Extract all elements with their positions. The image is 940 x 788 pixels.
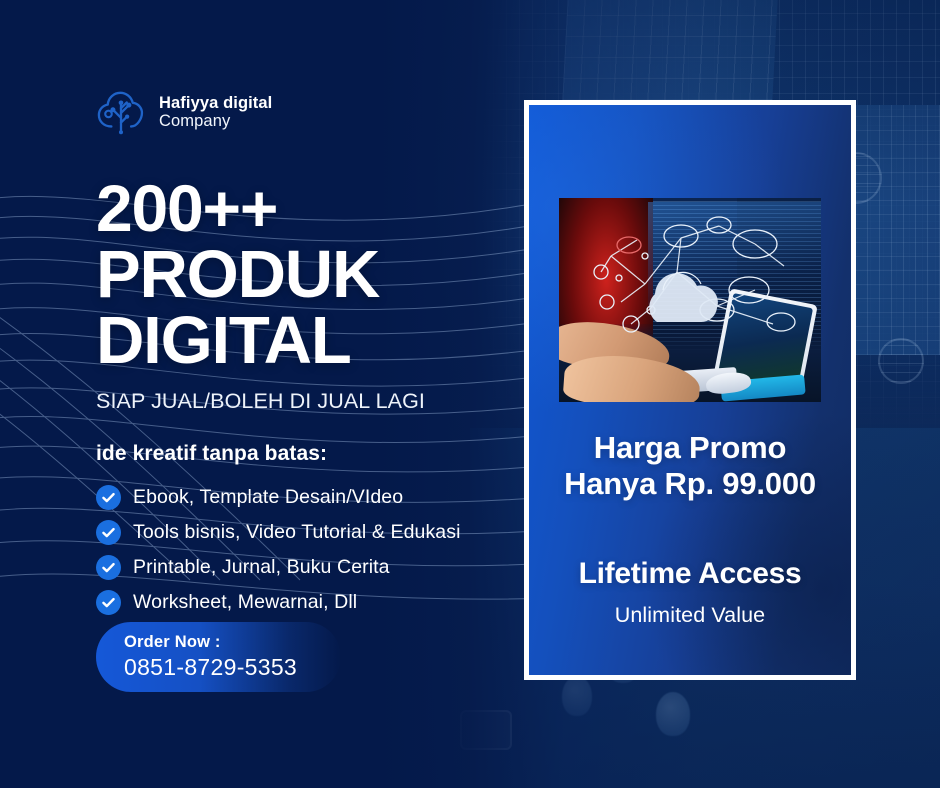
list-item-label: Printable, Jurnal, Buku Cerita [133, 556, 390, 579]
headline-line-2: PRODUK [96, 244, 516, 307]
check-circle-icon [96, 590, 121, 615]
headline-line-1: 200++ [96, 177, 516, 239]
list-item: Worksheet, Mewarnai, Dll [96, 590, 516, 615]
order-now-label: Order Now : [124, 633, 341, 652]
list-item: Printable, Jurnal, Buku Cerita [96, 555, 516, 580]
brand-name-primary: Hafiyya digital [159, 95, 272, 113]
promo-poster: Hafiyya digital Company 200++ PRODUK DIG… [0, 0, 940, 788]
brand-name-secondary: Company [159, 113, 272, 131]
list-item: Ebook, Template Desain/VIdeo [96, 485, 516, 510]
list-item-label: Ebook, Template Desain/VIdeo [133, 486, 403, 509]
hands-typing-cloud-computing-photo [559, 198, 821, 402]
check-circle-icon [96, 520, 121, 545]
order-now-button[interactable]: Order Now : 0851-8729-5353 [96, 622, 341, 692]
features-list: Ebook, Template Desain/VIdeo Tools bisni… [96, 485, 516, 615]
promo-price-line-2: Hanya Rp. 99.000 [529, 466, 851, 502]
brand-text: Hafiyya digital Company [159, 93, 272, 131]
photo-network-overlay [559, 198, 821, 402]
promo-price-block: Harga Promo Hanya Rp. 99.000 [529, 430, 851, 502]
left-content-column: Hafiyya digital Company 200++ PRODUK DIG… [96, 84, 516, 615]
promo-card: Harga Promo Hanya Rp. 99.000 Lifetime Ac… [524, 100, 856, 680]
features-kicker: ide kreatif tanpa batas: [96, 442, 516, 466]
list-item-label: Tools bisnis, Video Tutorial & Edukasi [133, 521, 461, 544]
headline-block: 200++ PRODUK DIGITAL [96, 177, 516, 373]
headline-line-3: DIGITAL [96, 310, 516, 373]
lifetime-access-title: Lifetime Access [529, 557, 851, 591]
lifetime-access-block: Lifetime Access Unlimited Value [529, 557, 851, 628]
subheading-text: SIAP JUAL/BOLEH DI JUAL LAGI [96, 389, 516, 414]
lifetime-access-subtitle: Unlimited Value [529, 603, 851, 628]
brand-lockup: Hafiyya digital Company [96, 84, 516, 140]
order-phone-number[interactable]: 0851-8729-5353 [124, 654, 341, 681]
promo-price-line-1: Harga Promo [529, 430, 851, 466]
list-item: Tools bisnis, Video Tutorial & Edukasi [96, 520, 516, 545]
check-circle-icon [96, 555, 121, 580]
check-circle-icon [96, 485, 121, 510]
list-item-label: Worksheet, Mewarnai, Dll [133, 591, 357, 614]
cloud-circuit-tree-icon [96, 88, 146, 136]
